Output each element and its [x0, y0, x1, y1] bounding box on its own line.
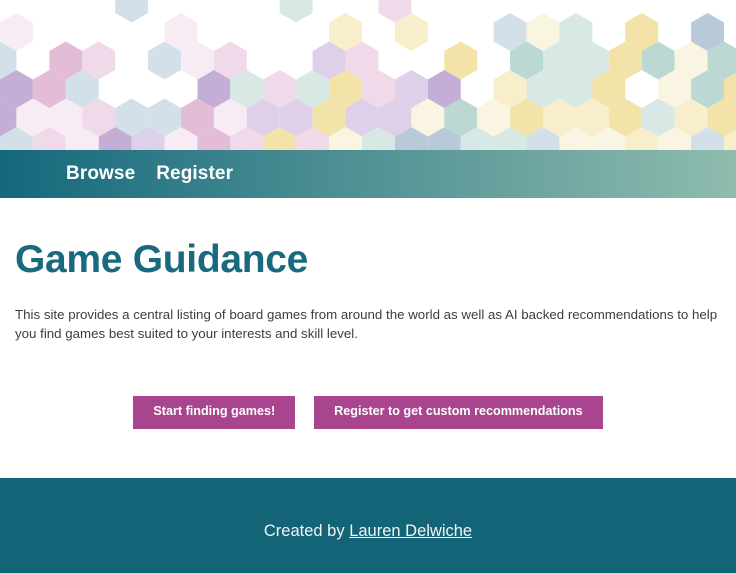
main-navigation: Browse Register — [0, 150, 736, 198]
hexagon-pattern-icon — [0, 0, 736, 150]
start-finding-games-button[interactable]: Start finding games! — [133, 396, 295, 429]
register-recommendations-button[interactable]: Register to get custom recommendations — [314, 396, 602, 429]
site-footer: Created by Lauren Delwiche — [0, 478, 736, 573]
nav-link-browse[interactable]: Browse — [66, 163, 135, 185]
hexagon-banner — [0, 0, 736, 150]
page-title: Game Guidance — [15, 198, 721, 279]
footer-credit: Created by Lauren Delwiche — [264, 510, 472, 541]
nav-link-register[interactable]: Register — [156, 163, 233, 185]
main-content: Game Guidance This site provides a centr… — [0, 198, 736, 478]
footer-credit-prefix: Created by — [264, 522, 349, 540]
footer-author-link[interactable]: Lauren Delwiche — [349, 522, 472, 540]
cta-button-row: Start finding games! Register to get cus… — [0, 396, 736, 429]
hexagon-tile — [280, 0, 313, 23]
hexagon-tile — [115, 0, 148, 23]
intro-paragraph: This site provides a central listing of … — [15, 279, 720, 343]
